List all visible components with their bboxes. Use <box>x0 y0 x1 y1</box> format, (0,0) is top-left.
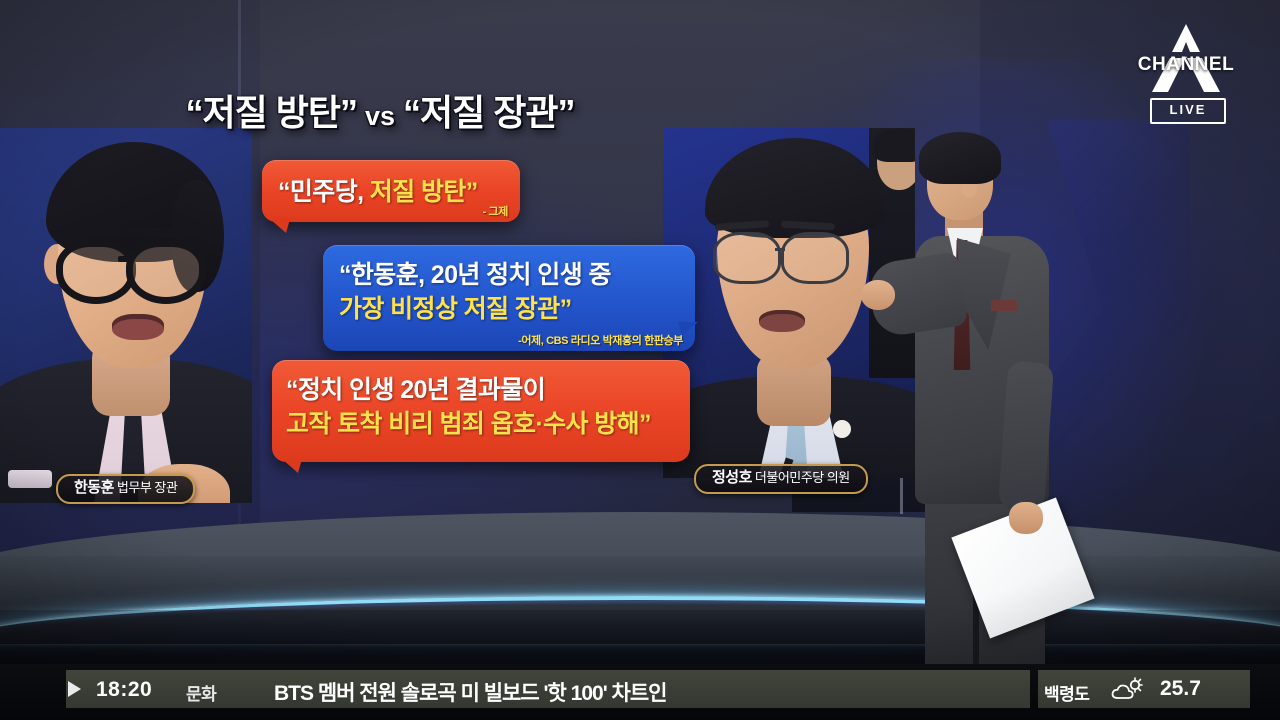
name-tag-left-name: 한동훈 <box>74 479 114 496</box>
quote-1-highlight: 저질 방탄” <box>370 178 478 206</box>
quote-bubble-3-line1: “정치 인생 20년 결과물이 <box>286 370 545 406</box>
quote-bubble-1: “민주당, 저질 방탄” - 그제 <box>262 160 520 222</box>
name-tag-han-dong-hoon: 한동훈법무부 장관 <box>56 474 195 504</box>
quote-bubble-1-text: “민주당, 저질 방탄” <box>278 172 478 208</box>
name-tag-right-name: 정성호 <box>712 469 752 486</box>
headline-left-quote: “저질 방탄” <box>185 92 356 133</box>
ticker-headline: BTS 멤버 전원 솔로곡 미 빌보드 '핫 100' 차트인 <box>274 677 667 707</box>
quote-1-plain: “민주당, <box>278 178 370 206</box>
name-tag-jeong-seong-ho: 정성호더불어민주당 의원 <box>694 464 868 494</box>
play-triangle-icon <box>68 681 81 697</box>
name-tag-left-title: 법무부 장관 <box>117 480 177 495</box>
weather-city: 백령도 <box>1044 680 1089 705</box>
quote-bubble-1-attribution: - 그제 <box>483 203 508 219</box>
headline-vs: vs <box>365 101 395 131</box>
page-title: “저질 방탄”vs“저질 장관” <box>0 84 760 136</box>
quote-bubble-2-line2: 가장 비정상 저질 장관” <box>339 289 572 325</box>
name-tag-right-title: 더불어민주당 의원 <box>755 470 850 485</box>
quote-bubble-2-line1: “한동훈, 20년 정치 인생 중 <box>339 255 611 291</box>
partly-cloudy-sun-icon <box>1110 676 1144 702</box>
ticker-time: 18:20 <box>96 678 152 702</box>
live-badge: LIVE <box>1150 98 1226 124</box>
quote-bubble-3-tail <box>282 459 302 473</box>
quote-bubble-2-attribution: -어제, CBS 라디오 박재홍의 한판승부 <box>518 332 683 348</box>
ticker-category: 문화 <box>186 680 216 705</box>
quote-bubble-2-tail <box>678 322 698 336</box>
quote-bubble-1-tail <box>270 219 290 233</box>
weather-temperature: 25.7 <box>1160 677 1201 701</box>
headline-right-quote: “저질 장관” <box>403 92 574 133</box>
channel-logo: CHANNEL LIVE <box>1126 22 1246 122</box>
broadcast-screen: “저질 방탄”vs“저질 장관” “민주당, 저질 방탄” - 그제 “한동훈,… <box>0 0 1280 720</box>
channel-logo-word: CHANNEL <box>1126 54 1246 76</box>
bottom-ticker-bar: 18:20 문화 BTS 멤버 전원 솔로곡 미 빌보드 '핫 100' 차트인… <box>0 664 1280 720</box>
quote-bubble-3-line2: 고작 토착 비리 범죄 옵호·수사 방해” <box>286 404 651 440</box>
quote-bubble-2: “한동훈, 20년 정치 인생 중 가장 비정상 저질 장관” -어제, CBS… <box>323 245 695 351</box>
quote-bubble-3: “정치 인생 20년 결과물이 고작 토착 비리 범죄 옵호·수사 방해” <box>272 360 690 462</box>
